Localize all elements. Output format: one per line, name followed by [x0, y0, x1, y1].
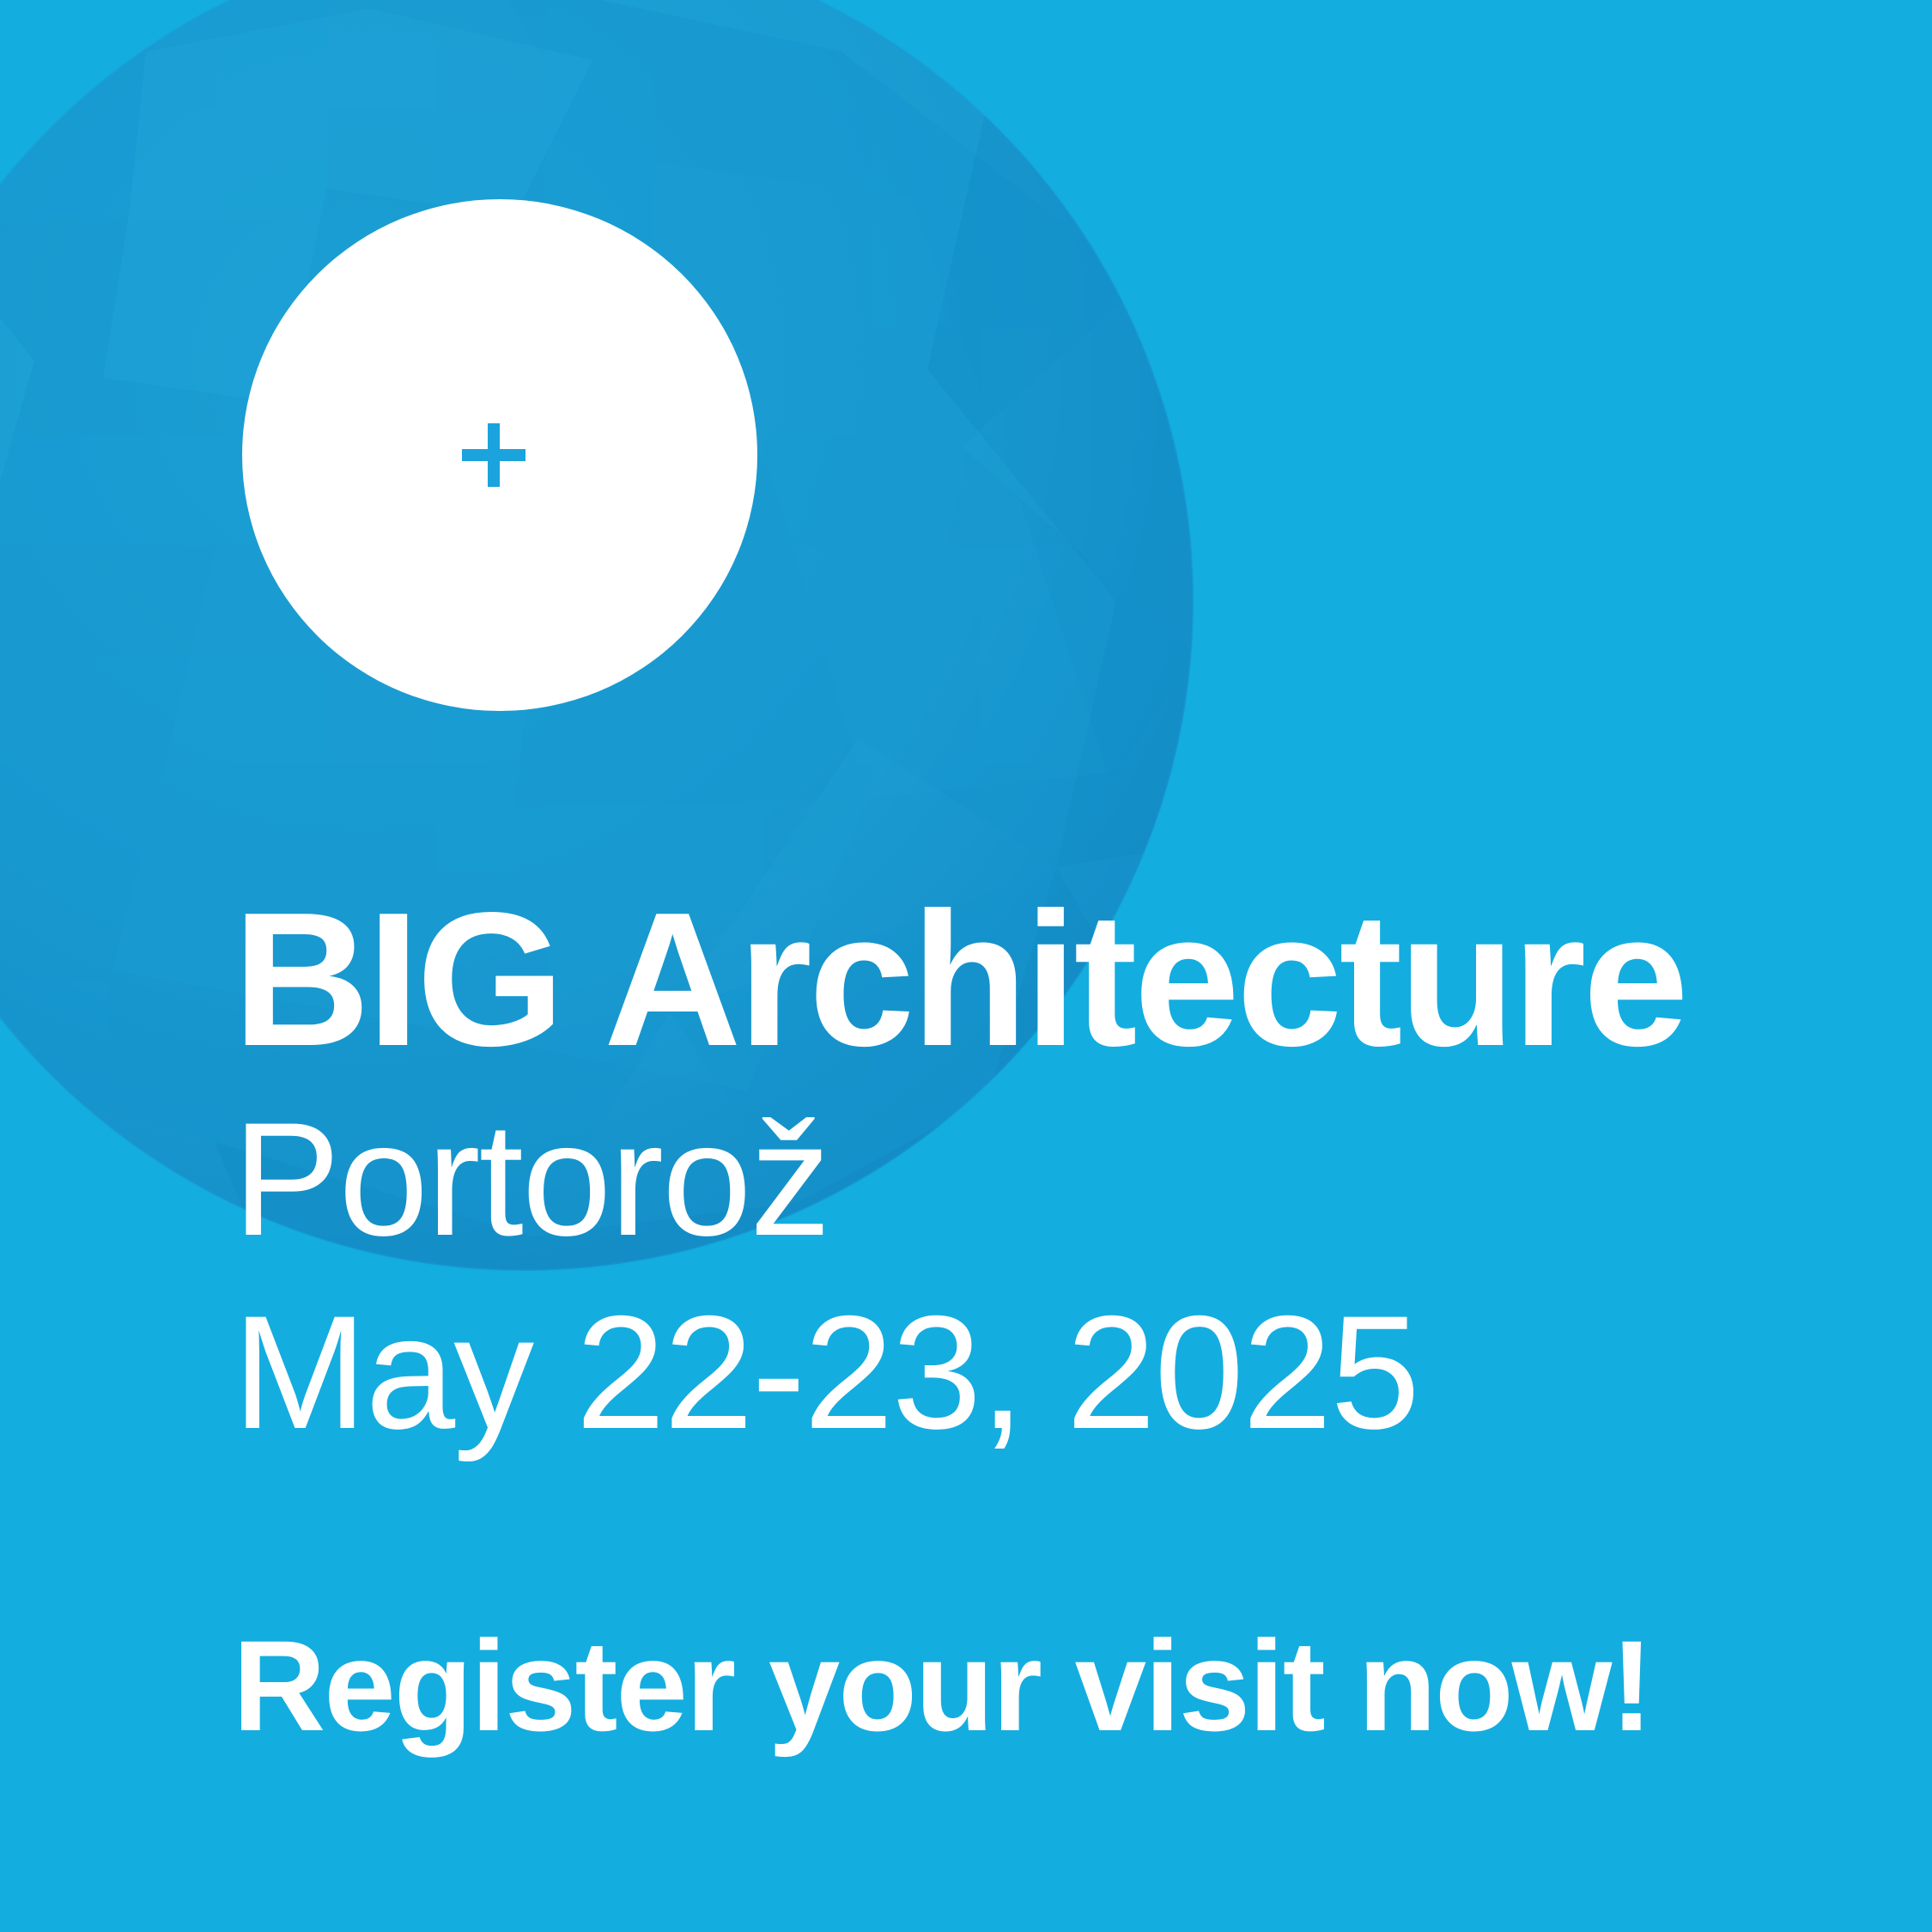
logo-circle-badge [242, 199, 757, 711]
poster-text-block: BIG Architecture Portorož May 22-23, 202… [233, 884, 1864, 1757]
event-location: Portorož [233, 1075, 1864, 1270]
plus-icon-stem [488, 423, 500, 487]
register-call-to-action[interactable]: Register your visit now! [233, 1462, 1864, 1757]
page-title: BIG Architecture [233, 884, 1864, 1075]
event-dates: May 22-23, 2025 [233, 1270, 1864, 1463]
event-poster: BIG Architecture Portorož May 22-23, 202… [0, 0, 1932, 1932]
